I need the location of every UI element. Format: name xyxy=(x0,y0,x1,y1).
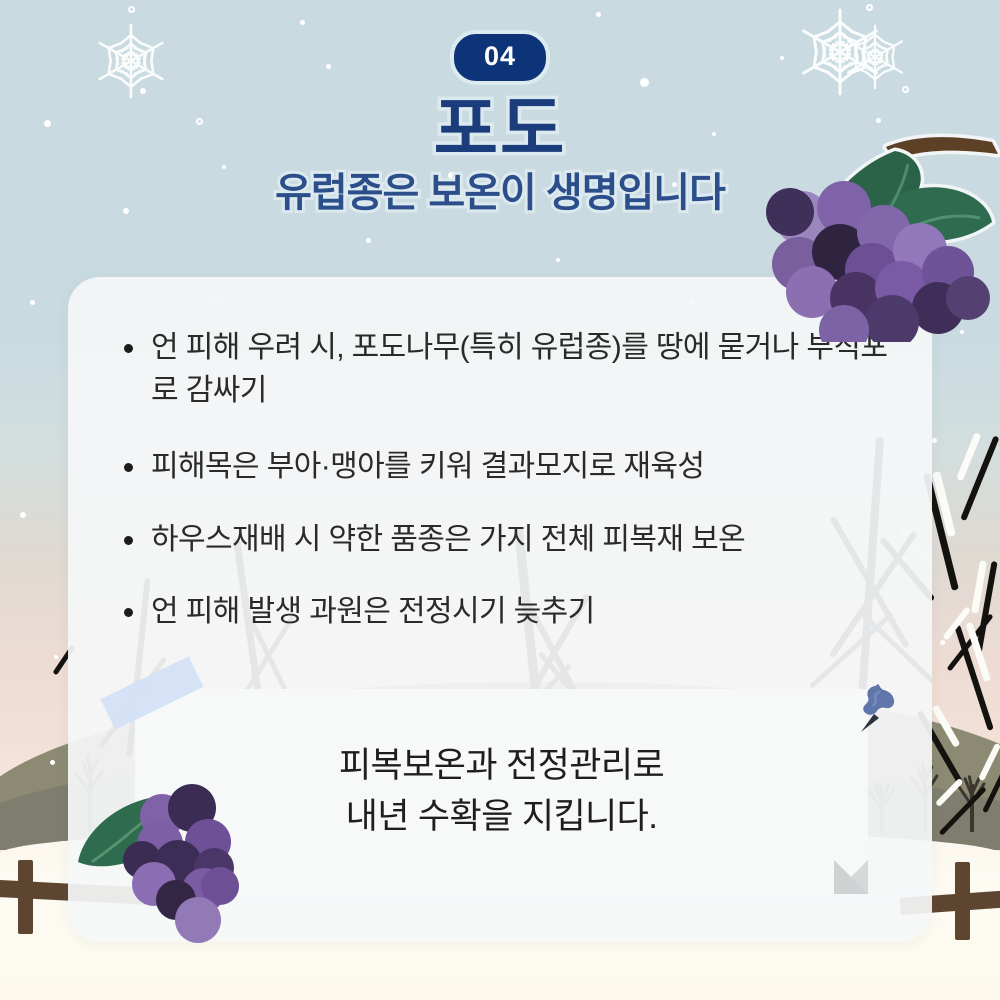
list-item: 언 피해 발생 과원은 전정시기 늦추기 xyxy=(124,591,914,634)
page-title: 포도 xyxy=(0,93,1000,167)
snow-dot xyxy=(940,640,945,645)
snow-dot xyxy=(20,512,26,518)
page-subtitle: 유럽종은 보온이 생명입니다 xyxy=(0,171,1000,215)
header: 04 포도 유럽종은 보온이 생명입니다 xyxy=(0,0,1000,270)
snow-dot xyxy=(50,760,55,765)
bullet-dot-icon xyxy=(124,463,133,472)
list-item: 피해목은 부아·맹아를 키워 결과모지로 재육성 xyxy=(124,446,914,489)
bullet-dot-icon xyxy=(124,608,133,617)
snow-dot xyxy=(932,438,937,443)
list-item-label: 언 피해 발생 과원은 전정시기 늦추기 xyxy=(151,591,595,634)
infographic-card: 04 포도 유럽종은 보온이 생명입니다 언 피해 우려 시, 포도나무(특히 … xyxy=(0,0,1000,1000)
snow-dot xyxy=(54,655,58,659)
pushpin-icon xyxy=(855,678,899,736)
bullet-dot-icon xyxy=(124,536,133,545)
list-item: 하우스재배 시 약한 품종은 가지 전체 피복재 보온 xyxy=(124,519,914,562)
snow-dot xyxy=(30,300,35,305)
folded-corner-shadow xyxy=(834,860,868,894)
summary-text: 피복보온과 전정관리로 내년 수확을 지킵니다. xyxy=(339,741,664,843)
grape-cluster-icon xyxy=(62,768,297,953)
bullet-list: 언 피해 우려 시, 포도나무(특히 유럽종)를 땅에 묻거나 부직포로 감싸기… xyxy=(124,327,914,664)
fence-post xyxy=(955,862,970,940)
fence-post xyxy=(18,860,33,934)
list-item-label: 하우스재배 시 약한 품종은 가지 전체 피복재 보온 xyxy=(151,519,745,562)
list-item-label: 피해목은 부아·맹아를 키워 결과모지로 재육성 xyxy=(151,446,704,489)
bullet-dot-icon xyxy=(124,344,133,353)
step-badge: 04 xyxy=(450,30,550,85)
